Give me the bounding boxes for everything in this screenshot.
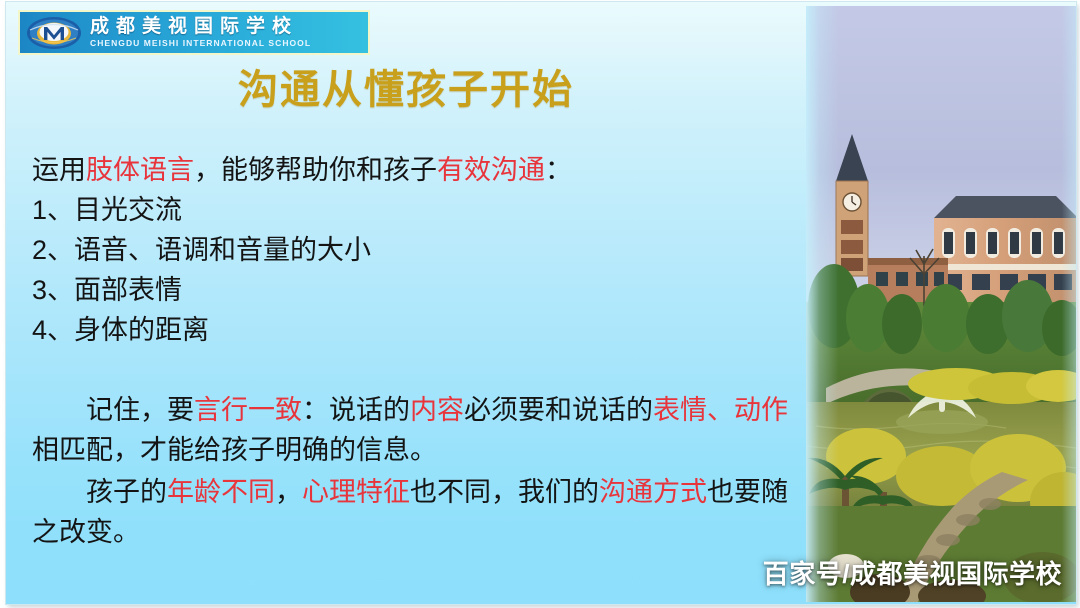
plain-text: 相匹配，才能给孩子明确的信息。: [32, 435, 437, 465]
school-emblem-icon: [26, 16, 82, 50]
school-logo-banner-inner: 成都美视国际学校 CHENGDU MEISHI INTERNATIONAL SC…: [20, 12, 368, 53]
highlighted-text: 心理特征: [302, 477, 410, 507]
paragraph: 孩子的年龄不同，心理特征也不同，我们的沟通方式也要随之改变。: [32, 472, 792, 552]
communication-tips-list: 1、目光交流 2、语音、语调和音量的大小 3、面部表情 4、身体的距离: [32, 190, 792, 350]
lead-part-3: ：: [545, 155, 572, 185]
list-item: 1、目光交流: [32, 190, 792, 230]
highlighted-text: 言行一致: [194, 395, 302, 425]
school-name-en: CHENGDU MEISHI INTERNATIONAL SCHOOL: [90, 38, 364, 49]
list-item: 2、语音、语调和音量的大小: [32, 230, 792, 270]
list-item: 4、身体的距离: [32, 310, 792, 350]
lead-highlight-2: 有效沟通: [437, 155, 545, 185]
lead-highlight-1: 肢体语言: [86, 155, 194, 185]
watermark-label: 百家号/成都美视国际学校: [763, 558, 1062, 590]
plain-text: 孩子的: [86, 477, 167, 507]
lead-part-2: ，能够帮助你和孩子: [194, 155, 437, 185]
highlighted-text: 年龄不同: [167, 477, 275, 507]
campus-photo: [806, 6, 1076, 602]
school-logo-banner: 成都美视国际学校 CHENGDU MEISHI INTERNATIONAL SC…: [18, 10, 370, 55]
plain-text: 记住，要: [86, 395, 194, 425]
plain-text: 必须要和说话的: [464, 395, 653, 425]
school-name-group: 成都美视国际学校 CHENGDU MEISHI INTERNATIONAL SC…: [90, 13, 364, 52]
paragraph: 记住，要言行一致：说话的内容必须要和说话的表情、动作相匹配，才能给孩子明确的信息…: [32, 390, 792, 470]
school-name-cn: 成都美视国际学校: [90, 16, 364, 38]
closing-paragraphs: 记住，要言行一致：说话的内容必须要和说话的表情、动作相匹配，才能给孩子明确的信息…: [32, 390, 792, 552]
plain-text: ：说话的: [302, 395, 410, 425]
slide-body: 运用肢体语言，能够帮助你和孩子有效沟通： 1、目光交流 2、语音、语调和音量的大…: [32, 150, 792, 552]
highlighted-text: 动作: [734, 395, 788, 425]
plain-text: ，: [275, 477, 302, 507]
highlighted-text: 内容: [410, 395, 464, 425]
slide-background: 成都美视国际学校 CHENGDU MEISHI INTERNATIONAL SC…: [6, 2, 1076, 604]
slide-title: 沟通从懂孩子开始: [6, 65, 806, 115]
lead-sentence: 运用肢体语言，能够帮助你和孩子有效沟通：: [32, 150, 792, 190]
plain-text: 也不同，我们的: [410, 477, 599, 507]
lead-part-1: 运用: [32, 155, 86, 185]
presentation-slide: 成都美视国际学校 CHENGDU MEISHI INTERNATIONAL SC…: [0, 0, 1080, 608]
campus-photo-artwork: [806, 6, 1076, 602]
highlighted-text: 沟通方式: [599, 477, 707, 507]
list-item: 3、面部表情: [32, 270, 792, 310]
highlighted-text: 表情、: [653, 395, 734, 425]
campus-photo-canvas: [806, 6, 1076, 602]
